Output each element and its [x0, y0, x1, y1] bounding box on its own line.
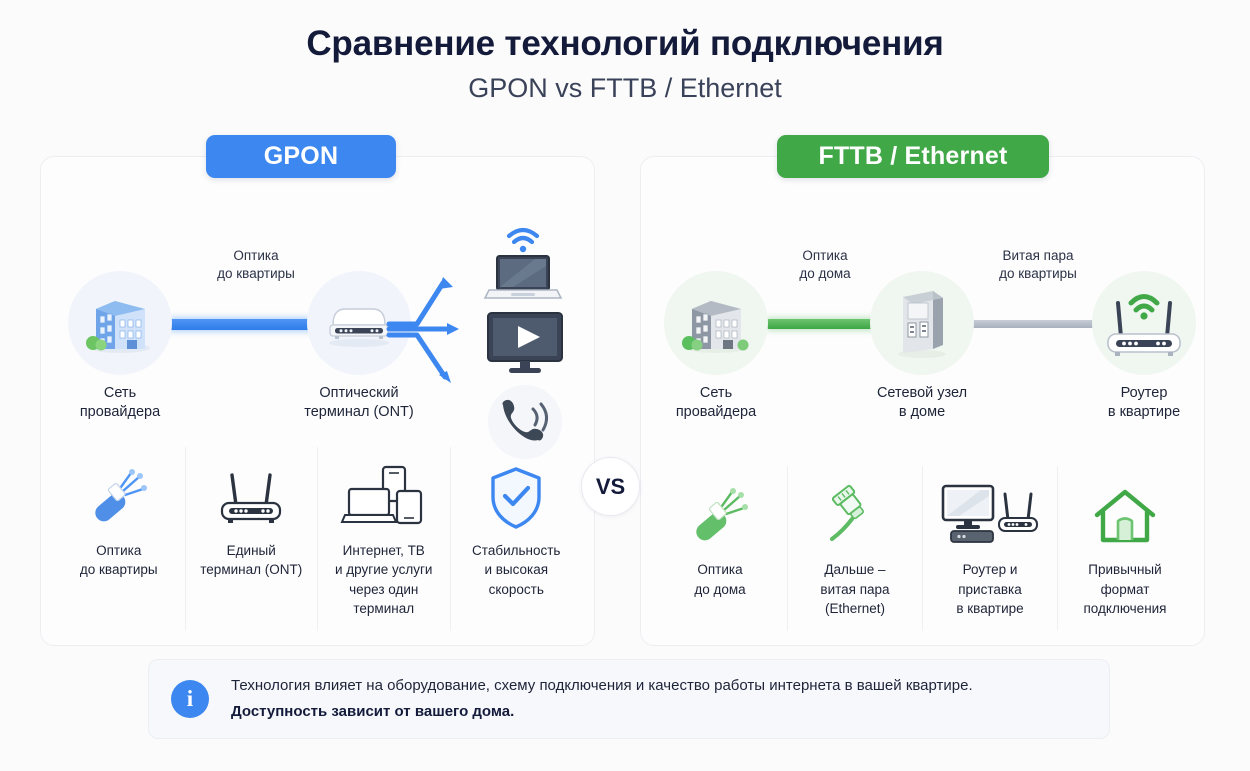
card-text: Оптика до квартиры: [80, 541, 158, 580]
link-label-utp-to-apartment: Витая пара до квартиры: [977, 247, 1099, 283]
card-text: Дальше – витая пара (Ethernet): [820, 560, 889, 619]
card-text: Роутер и приставка в квартире: [956, 560, 1023, 619]
cable-utp-to-apartment: [971, 320, 1103, 328]
ethernet-plug-icon: [826, 480, 884, 554]
link-label-fiber-to-building: Оптика до дома: [772, 247, 878, 283]
card-services: Интернет, ТВ и другие услуги через один …: [318, 447, 451, 631]
shield-check-icon: [487, 461, 545, 535]
page-title: Сравнение технологий подключения: [0, 24, 1250, 64]
card-familiar-format: Привычный формат подключения: [1058, 466, 1192, 631]
endpoint-laptop: [475, 219, 571, 305]
node-provider-network: Сеть провайдера: [63, 271, 177, 422]
note-text: Технология влияет на оборудование, схему…: [231, 675, 973, 723]
node-label-provider-network: Сеть провайдера: [659, 384, 773, 422]
note-bar: i Технология влияет на оборудование, схе…: [148, 659, 1110, 739]
comparison-panels: GPON Оптика до квартиры: [0, 156, 1250, 646]
router-icon: [215, 461, 287, 535]
fiber-cable-icon: [89, 461, 149, 535]
card-fiber-to-building: Оптика до дома: [653, 466, 788, 631]
card-twisted-pair: Дальше – витая пара (Ethernet): [788, 466, 923, 631]
router-wifi-icon: [1092, 271, 1196, 375]
node-label-network-cabinet: Сетевой узел в доме: [865, 384, 979, 422]
multi-device-icon: [343, 461, 425, 535]
card-text: Привычный формат подключения: [1083, 560, 1166, 619]
node-network-cabinet: Сетевой узел в доме: [865, 271, 979, 422]
page-subtitle: GPON vs FTTB / Ethernet: [0, 73, 1250, 104]
node-apartment-router: Роутер в квартире: [1087, 271, 1201, 422]
panel-fttb: FTTB / Ethernet Оптика до дома Витая пар…: [640, 156, 1205, 646]
tv-router-icon: [941, 480, 1039, 554]
info-icon: i: [171, 680, 209, 718]
note-line-primary: Технология влияет на оборудование, схему…: [231, 675, 973, 698]
node-provider-network: Сеть провайдера: [659, 271, 773, 422]
card-fiber-to-apartment: Оптика до квартиры: [53, 447, 186, 631]
endpoint-tv: [484, 311, 566, 377]
fiber-cable-icon: [690, 480, 750, 554]
node-label-apartment-router: Роутер в квартире: [1087, 384, 1201, 422]
vs-badge: VS: [581, 457, 640, 516]
office-building-icon: [664, 271, 768, 375]
office-building-icon: [68, 271, 172, 375]
card-router-settop: Роутер и приставка в квартире: [923, 466, 1058, 631]
tv-play-icon: [484, 311, 566, 377]
flow-gpon: Оптика до квартиры: [41, 219, 594, 449]
house-icon: [1092, 480, 1158, 554]
phone-ringing-icon: [497, 397, 553, 447]
flow-fttb: Оптика до дома Витая пара до квартиры: [641, 219, 1204, 449]
node-label-provider-network: Сеть провайдера: [63, 384, 177, 422]
card-text: Единый терминал (ONT): [200, 541, 302, 580]
laptop-wifi-icon: [475, 219, 571, 305]
header: Сравнение технологий подключения GPON vs…: [0, 0, 1250, 104]
card-single-terminal: Единый терминал (ONT): [186, 447, 319, 631]
card-text: Оптика до дома: [694, 560, 745, 599]
badge-gpon: GPON: [206, 135, 396, 178]
note-line-secondary: Доступность зависит от вашего дома.: [231, 701, 973, 724]
card-text: Стабильность и высокая скорость: [472, 541, 560, 600]
panel-gpon: GPON Оптика до квартиры: [40, 156, 595, 646]
badge-fttb: FTTB / Ethernet: [777, 135, 1049, 178]
infographic-page: Сравнение технологий подключения GPON vs…: [0, 0, 1250, 771]
network-cabinet-icon: [870, 271, 974, 375]
card-stability: Стабильность и высокая скорость: [451, 447, 583, 631]
card-text: Интернет, ТВ и другие услуги через один …: [335, 541, 432, 619]
cards-fttb: Оптика до дома: [653, 466, 1192, 631]
cards-gpon: Оптика до квартиры: [53, 447, 582, 631]
